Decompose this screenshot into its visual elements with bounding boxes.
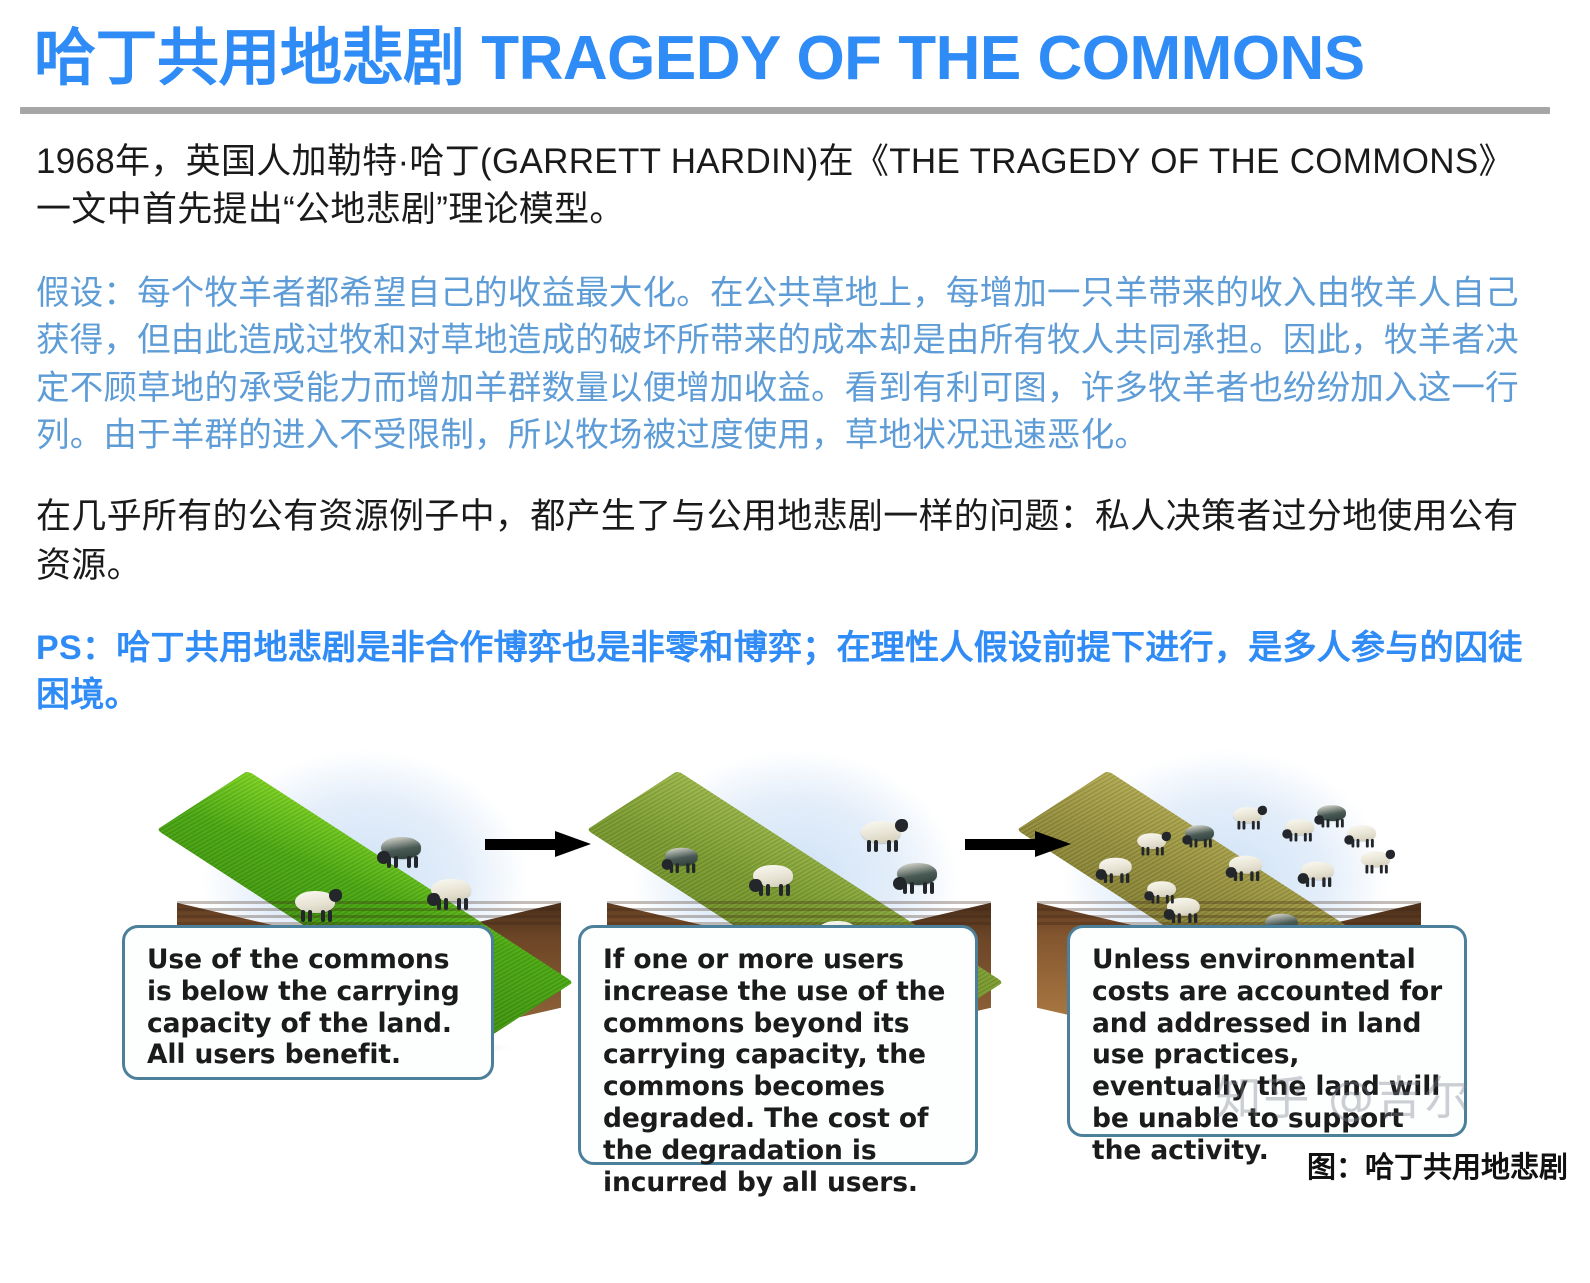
sheep	[1344, 823, 1381, 847]
page-title: 哈丁共用地悲剧 TRAGEDY OF THE COMMONS	[34, 26, 1556, 93]
sheep	[291, 889, 343, 923]
figure-caption: 图：哈丁共用地悲剧	[1307, 1144, 1568, 1186]
sheep	[1144, 879, 1181, 903]
title-divider	[20, 107, 1550, 114]
panel-caption-2: If one or more users increase the use of…	[578, 925, 978, 1165]
sheep	[749, 863, 801, 897]
sheep	[662, 846, 705, 874]
sheep	[427, 877, 479, 911]
paragraph-intro: 1968年，英国人加勒特·哈丁(GARRETT HARDIN)在《THE TRA…	[36, 138, 1546, 235]
sheep	[1226, 854, 1269, 882]
watermark: 知乎 @吉尔	[1215, 1062, 1472, 1128]
sheep	[377, 835, 429, 869]
sheep	[857, 819, 909, 853]
sheep	[1096, 856, 1139, 884]
paragraph-assumption: 假设：每个牧羊者都希望自己的收益最大化。在公共草地上，每增加一只羊带来的收入由牧…	[36, 270, 1546, 460]
sheep	[893, 861, 945, 895]
sheep	[1182, 823, 1219, 847]
article-body: 1968年，英国人加勒特·哈丁(GARRETT HARDIN)在《THE TRA…	[0, 138, 1590, 719]
sheep	[1298, 860, 1341, 888]
arrow-right-icon	[965, 831, 1073, 857]
sheep	[1358, 849, 1395, 873]
arrow-right-icon	[485, 831, 593, 857]
sheep	[1134, 831, 1171, 855]
panel-caption-1: Use of the commons is below the carrying…	[122, 925, 494, 1080]
paragraph-ps-note: PS：哈丁共用地悲剧是非合作博弈也是非零和博弈；在理性人假设前提下进行，是多人参…	[36, 625, 1546, 719]
sheep	[1230, 805, 1267, 829]
header: 哈丁共用地悲剧 TRAGEDY OF THE COMMONS	[0, 0, 1590, 93]
paragraph-conclusion: 在几乎所有的公有资源例子中，都产生了与公用地悲剧一样的问题：私人决策者过分地使用…	[36, 493, 1546, 590]
